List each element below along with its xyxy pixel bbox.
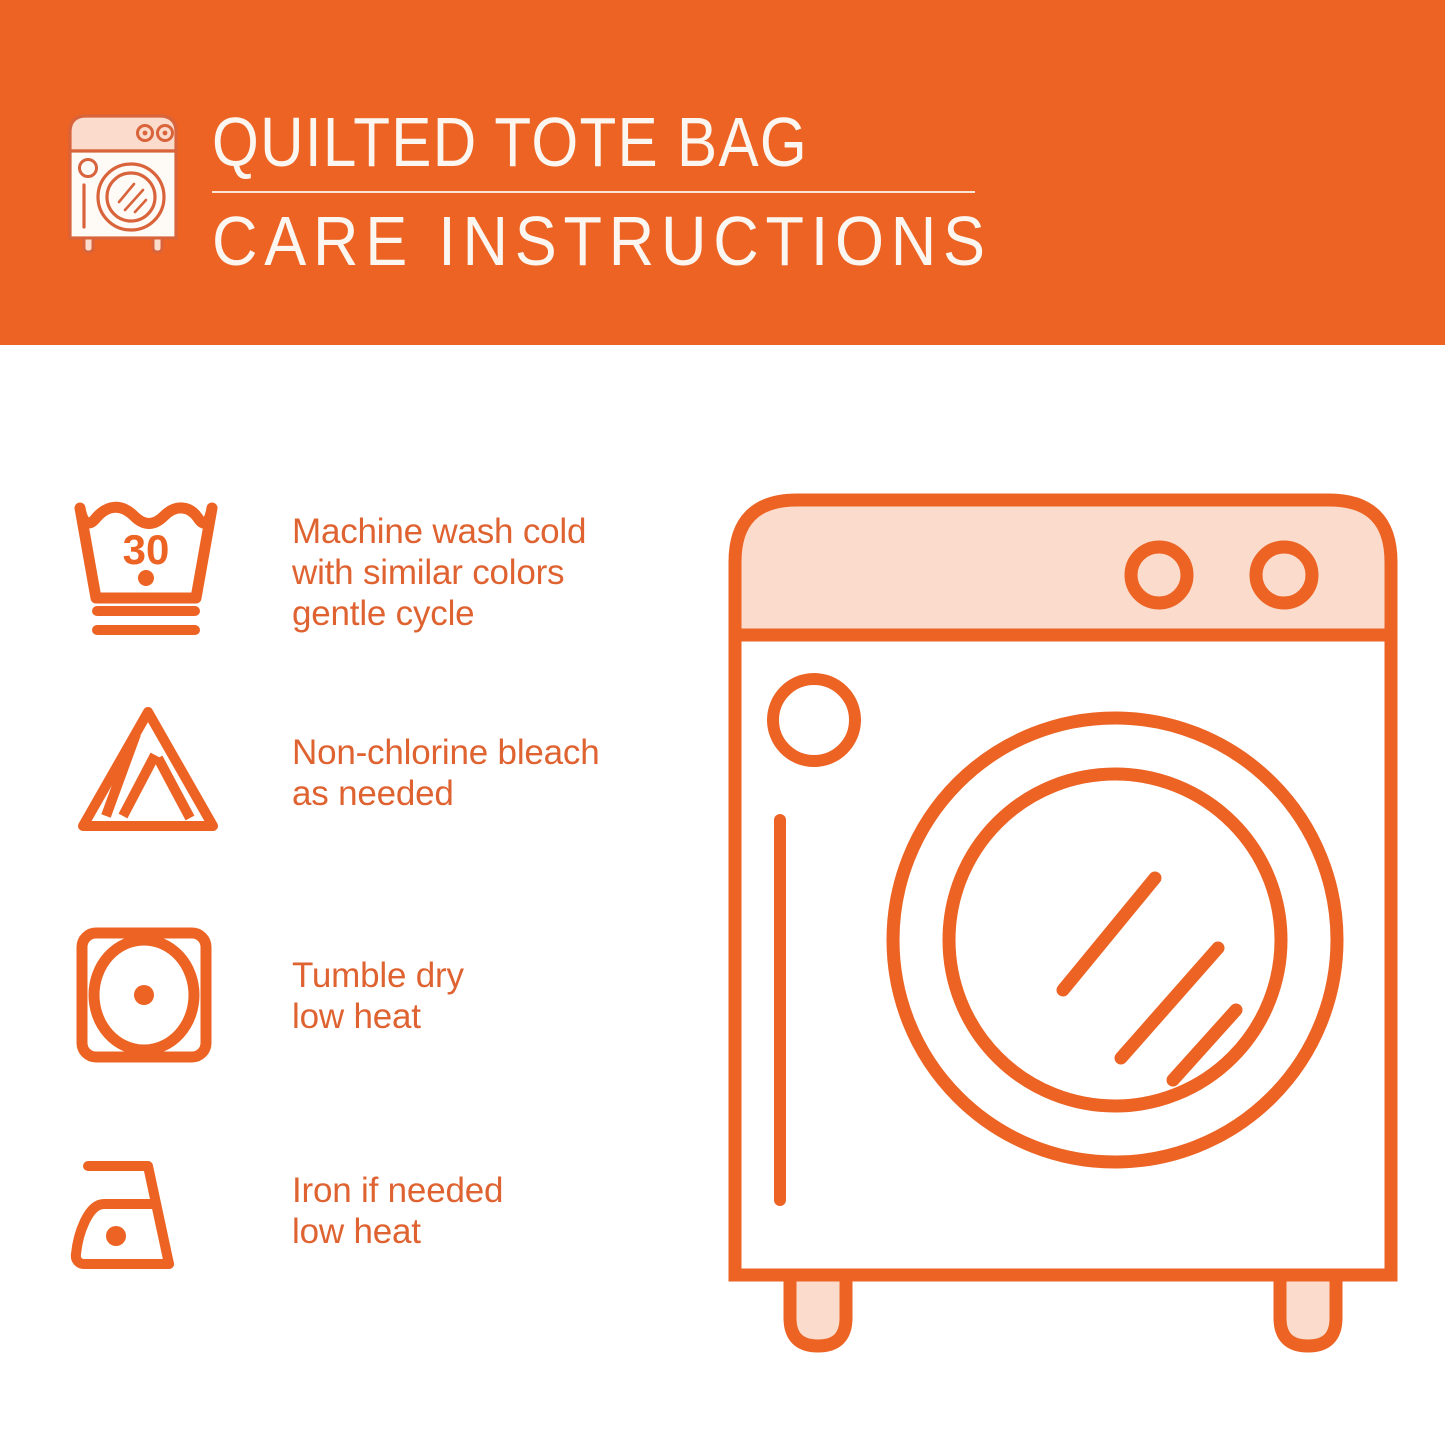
svg-text:30: 30: [123, 526, 170, 573]
triangle-bleach-icon: [70, 700, 235, 840]
care-instructions-page: QUILTED TOTE BAG CARE INSTRUCTIONS 30: [0, 0, 1445, 1445]
header-band: QUILTED TOTE BAG CARE INSTRUCTIONS: [0, 0, 1445, 345]
iron-icon: [70, 1148, 235, 1288]
tumble-dry-icon: [70, 925, 235, 1065]
care-text-tumble-dry: Tumble dry low heat: [292, 955, 464, 1037]
header-text-block: QUILTED TOTE BAG CARE INSTRUCTIONS: [212, 104, 982, 280]
care-instructions-list: 30 Machine wash cold with similar colors…: [0, 345, 700, 1445]
care-text-machine-wash: Machine wash cold with similar colors ge…: [292, 511, 586, 634]
washing-machine-icon: [62, 102, 184, 254]
washing-machine-illustration: [718, 470, 1408, 1370]
care-row-tumble-dry: Tumble dry low heat: [0, 925, 700, 1080]
wash-basin-30-icon: 30: [70, 496, 235, 646]
care-row-bleach: Non-chlorine bleach as needed: [0, 700, 700, 860]
page-subtitle: CARE INSTRUCTIONS: [212, 202, 905, 280]
care-row-iron: Iron if needed low heat: [0, 1140, 700, 1300]
care-row-machine-wash: 30 Machine wash cold with similar colors…: [0, 490, 700, 660]
care-text-iron: Iron if needed low heat: [292, 1170, 503, 1252]
care-text-bleach: Non-chlorine bleach as needed: [292, 732, 600, 814]
title-divider: [212, 191, 975, 193]
page-title: QUILTED TOTE BAG: [212, 104, 874, 180]
